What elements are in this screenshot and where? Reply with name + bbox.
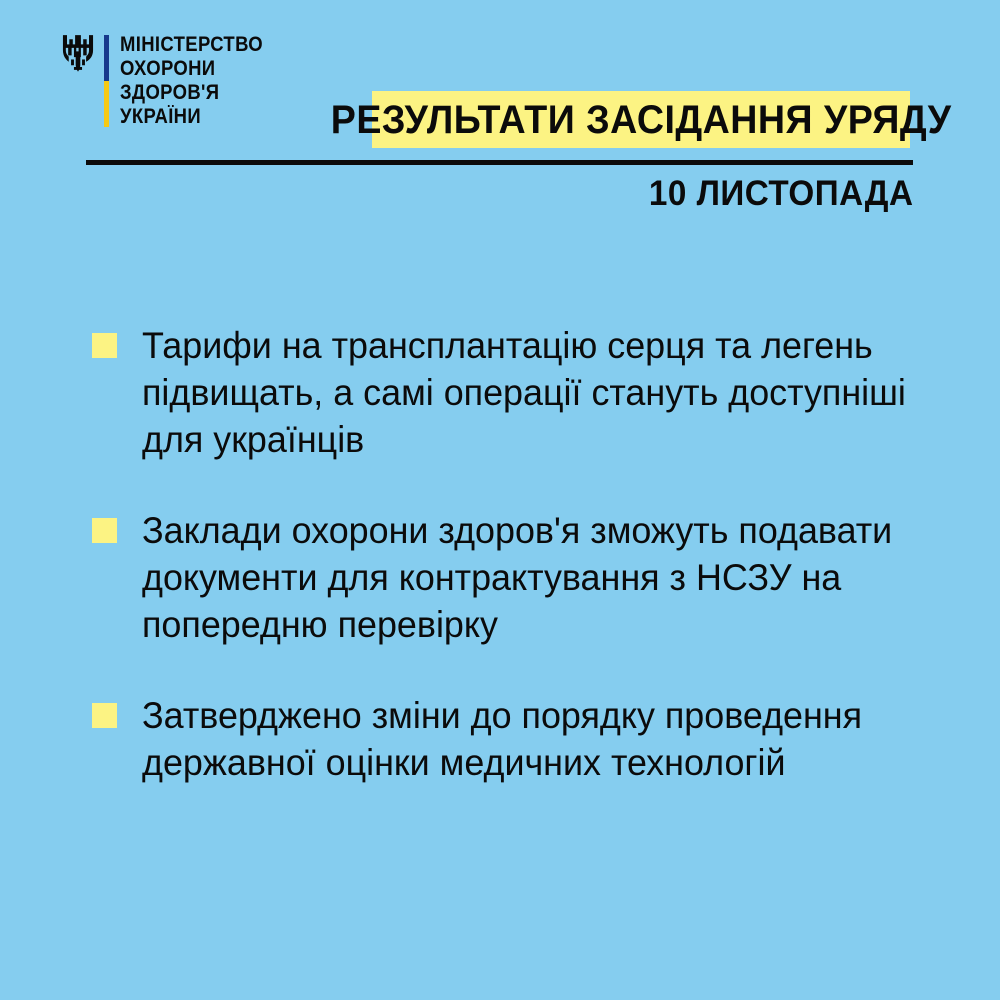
ministry-name-line-3: ЗДОРОВ'Я: [120, 81, 263, 105]
date-label: 10 ЛИСТОПАДА: [648, 175, 913, 213]
list-item: Затверджено зміни до порядку проведення …: [92, 692, 952, 786]
ministry-name-line-1: МІНІСТЕРСТВО: [120, 33, 263, 57]
poster-canvas: МІНІСТЕРСТВО ОХОРОНИ ЗДОРОВ'Я УКРАЇНИ РЕ…: [0, 0, 1000, 1000]
flag-divider-bar: [104, 35, 109, 127]
bullet-square-icon: [92, 703, 117, 728]
list-item-text: Тарифи на трансплантацію серця та легень…: [142, 322, 928, 463]
bullet-square-icon: [92, 333, 117, 358]
bullet-square-icon: [92, 518, 117, 543]
results-bullet-list: Тарифи на трансплантацію серця та легень…: [92, 322, 952, 786]
list-item: Заклади охорони здоров'я зможуть подават…: [92, 507, 952, 648]
poster-header: МІНІСТЕРСТВО ОХОРОНИ ЗДОРОВ'Я УКРАЇНИ РЕ…: [0, 0, 1000, 230]
ministry-logo: МІНІСТЕРСТВО ОХОРОНИ ЗДОРОВ'Я УКРАЇНИ: [60, 32, 283, 132]
list-item: Тарифи на трансплантацію серця та легень…: [92, 322, 952, 463]
list-item-text: Затверджено зміни до порядку проведення …: [142, 692, 928, 786]
ukraine-trident-emblem: [60, 34, 96, 78]
header-divider-rule: [86, 160, 913, 165]
ministry-name-line-2: ОХОРОНИ: [120, 57, 263, 81]
ministry-name-line-4: УКРАЇНИ: [120, 105, 263, 129]
list-item-text: Заклади охорони здоров'я зможуть подават…: [142, 507, 928, 648]
ministry-name: МІНІСТЕРСТВО ОХОРОНИ ЗДОРОВ'Я УКРАЇНИ: [120, 32, 283, 129]
title-highlight-band: РЕЗУЛЬТАТИ ЗАСІДАННЯ УРЯДУ: [372, 91, 910, 148]
page-title: РЕЗУЛЬТАТИ ЗАСІДАННЯ УРЯДУ: [331, 100, 952, 140]
